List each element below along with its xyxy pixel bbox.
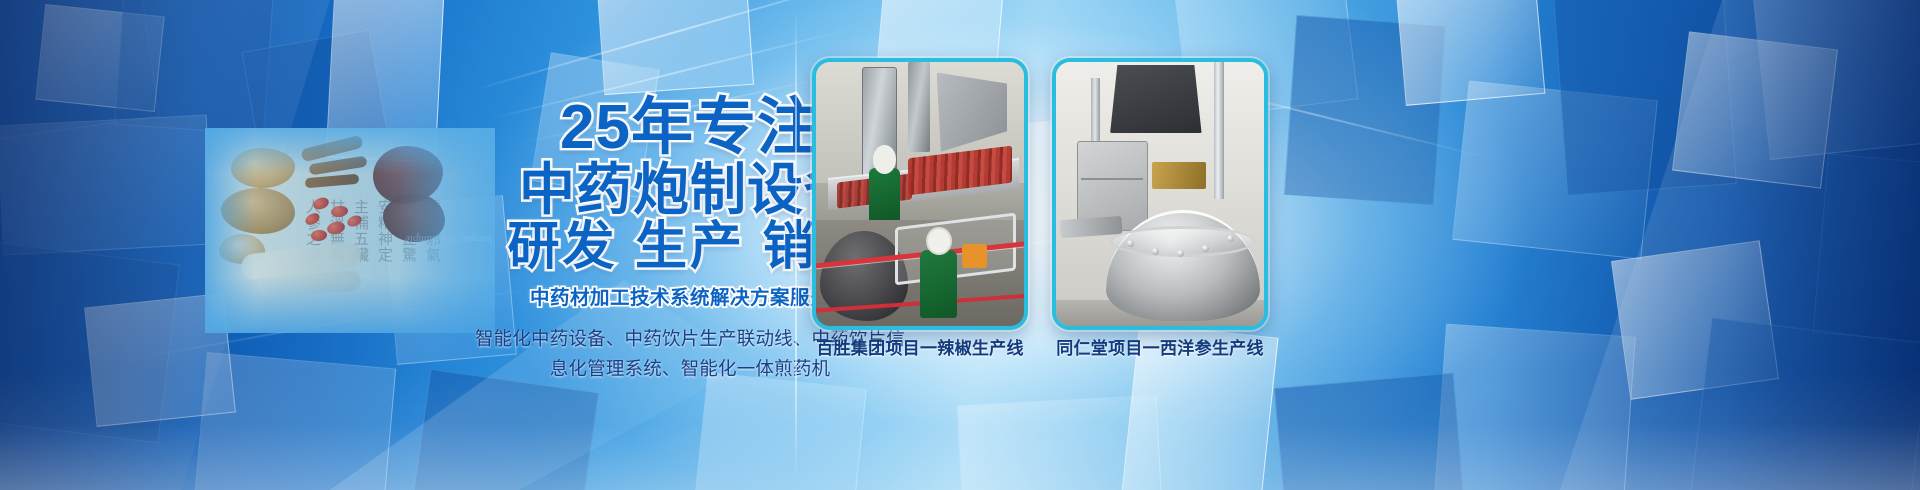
project-card-chili-line[interactable] — [812, 58, 1028, 330]
section-divider — [795, 10, 797, 480]
promo-banner: 人參之部 甘溫無毒 主補五臟 安精神定 魂魄止驚 悸除邪氣 Sample Tex… — [0, 0, 1920, 490]
project-card-ginseng-line[interactable] — [1052, 58, 1268, 330]
project-card-caption-ginseng: 同仁堂项目一西洋参生产线 — [1052, 334, 1268, 359]
chili-production-line-photo — [816, 62, 1024, 326]
right-vignette — [1490, 0, 1920, 490]
project-card-caption-chili: 百胜集团项目一辣椒生产线 — [812, 334, 1028, 359]
floor-sheen — [0, 370, 1920, 490]
herb-collage-image: 人參之部 甘溫無毒 主補五臟 安精神定 魂魄止驚 悸除邪氣 Sample Tex… — [205, 128, 495, 333]
ginseng-production-line-photo — [1056, 62, 1264, 326]
